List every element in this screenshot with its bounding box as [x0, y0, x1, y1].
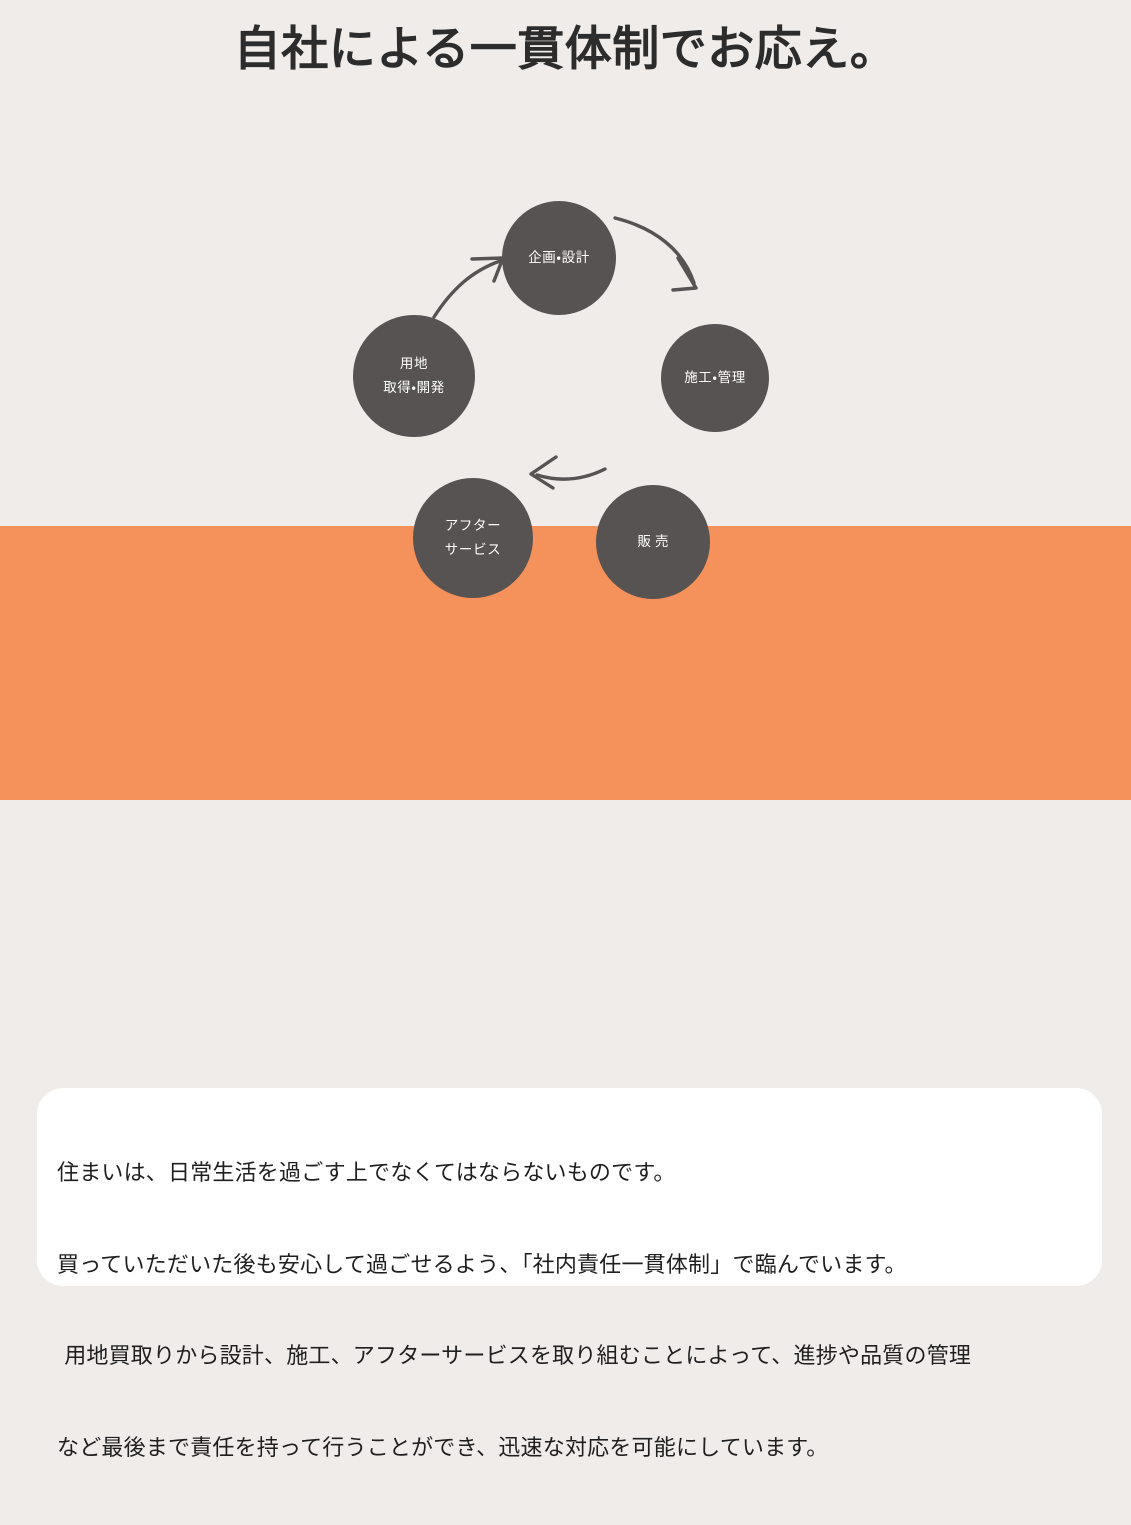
cycle-node-label-line1: アフター	[445, 514, 501, 538]
footer-band: 住まいは、日常生活を過ごす上でなくてはならないものです。 買っていただいた後も安…	[0, 526, 1131, 800]
slide-canvas: 自社による一貫体制でお応え。	[0, 0, 1131, 800]
footer-line-1: 住まいは、日常生活を過ごす上でなくてはならないものです。	[57, 1159, 1088, 1190]
footer-line-4: など最後まで責任を持って行うことができ、迅速な対応を可能にしています。	[57, 1434, 1088, 1465]
footer-text-card: 住まいは、日常生活を過ごす上でなくてはならないものです。 買っていただいた後も安…	[37, 1088, 1102, 1286]
footer-line-3: 用地買取りから設計、施工、アフターサービスを取り組むことによって、進捗や品質の管…	[57, 1342, 1088, 1373]
arrow-hanbai-to-after	[531, 457, 605, 488]
cycle-node-planning-design[interactable]: 企画・設計	[502, 201, 616, 315]
cycle-node-label-line1: 用地	[400, 352, 428, 376]
cycle-node-construction-management[interactable]: 施工・管理	[661, 324, 769, 432]
cycle-node-label: 企画・設計	[528, 246, 590, 270]
footer-line-2: 買っていただいた後も安心して過ごせるよう、「社内責任一貫体制」で臨んでいます。	[57, 1251, 1088, 1282]
cycle-node-label-line2: 取得・開発	[383, 376, 445, 400]
arrow-kikaku-to-sekou	[615, 218, 696, 290]
page-title: 自社による一貫体制でお応え。	[0, 22, 1131, 76]
cycle-node-label: 施工・管理	[684, 366, 746, 390]
cycle-diagram: 企画・設計 施工・管理 販売 アフター サービス 用地 取得・開発	[0, 95, 1131, 525]
cycle-node-label: 販売	[634, 530, 673, 554]
cycle-node-after-service[interactable]: アフター サービス	[413, 478, 533, 598]
arrow-youchi-to-kikaku	[434, 258, 503, 317]
cycle-node-sales[interactable]: 販売	[596, 485, 710, 599]
cycle-node-land-acquisition-development[interactable]: 用地 取得・開発	[353, 315, 475, 437]
footer-paragraph: 住まいは、日常生活を過ごす上でなくてはならないものです。 買っていただいた後も安…	[57, 1098, 1088, 1525]
cycle-node-label-line2: サービス	[445, 538, 501, 562]
